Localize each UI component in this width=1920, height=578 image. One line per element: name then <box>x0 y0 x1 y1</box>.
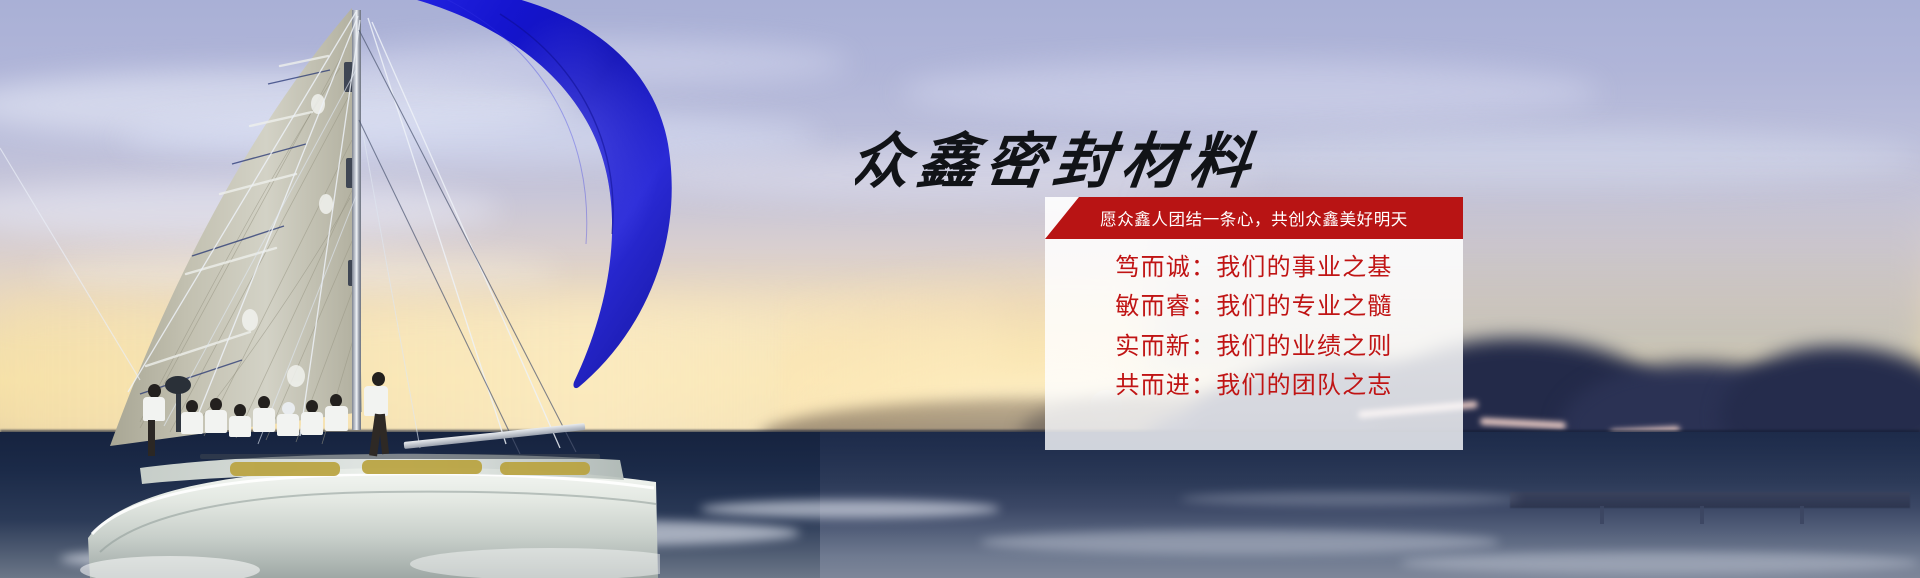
creed-list: 笃而诚：我们的事业之基 敏而睿：我们的专业之髓 实而新：我们的业绩之则 共而进：… <box>1045 243 1463 405</box>
pier-leg <box>1800 506 1804 524</box>
hero-banner: 众鑫密封材料 愿众鑫人团结一条心，共创众鑫美好明天 笃而诚：我们的事业之基 敏而… <box>0 0 1920 578</box>
sailboat <box>0 0 720 578</box>
pulpit-post <box>176 390 181 432</box>
sea-foam <box>700 500 1000 518</box>
slogan-bar-text: 愿众鑫人团结一条心，共创众鑫美好明天 <box>1045 197 1463 239</box>
sea-foam <box>1180 492 1520 506</box>
creed-line: 共而进：我们的团队之志 <box>1115 367 1392 404</box>
pier-leg <box>1700 506 1704 524</box>
cloud-streak <box>900 60 1600 124</box>
radar-dome-icon <box>165 376 191 394</box>
pier-leg <box>1600 506 1604 524</box>
sea-foam <box>1400 552 1920 574</box>
creed-line: 敏而睿：我们的专业之髓 <box>1115 288 1392 325</box>
sea-foam <box>980 530 1500 554</box>
distant-pier <box>1510 492 1910 508</box>
creed-line: 实而新：我们的业绩之则 <box>1115 328 1392 365</box>
calligraphy-text: 众鑫密封材料 <box>855 126 1262 197</box>
brand-calligraphy-title: 众鑫密封材料 <box>855 120 1475 198</box>
creed-line: 笃而诚：我们的事业之基 <box>1115 249 1392 286</box>
